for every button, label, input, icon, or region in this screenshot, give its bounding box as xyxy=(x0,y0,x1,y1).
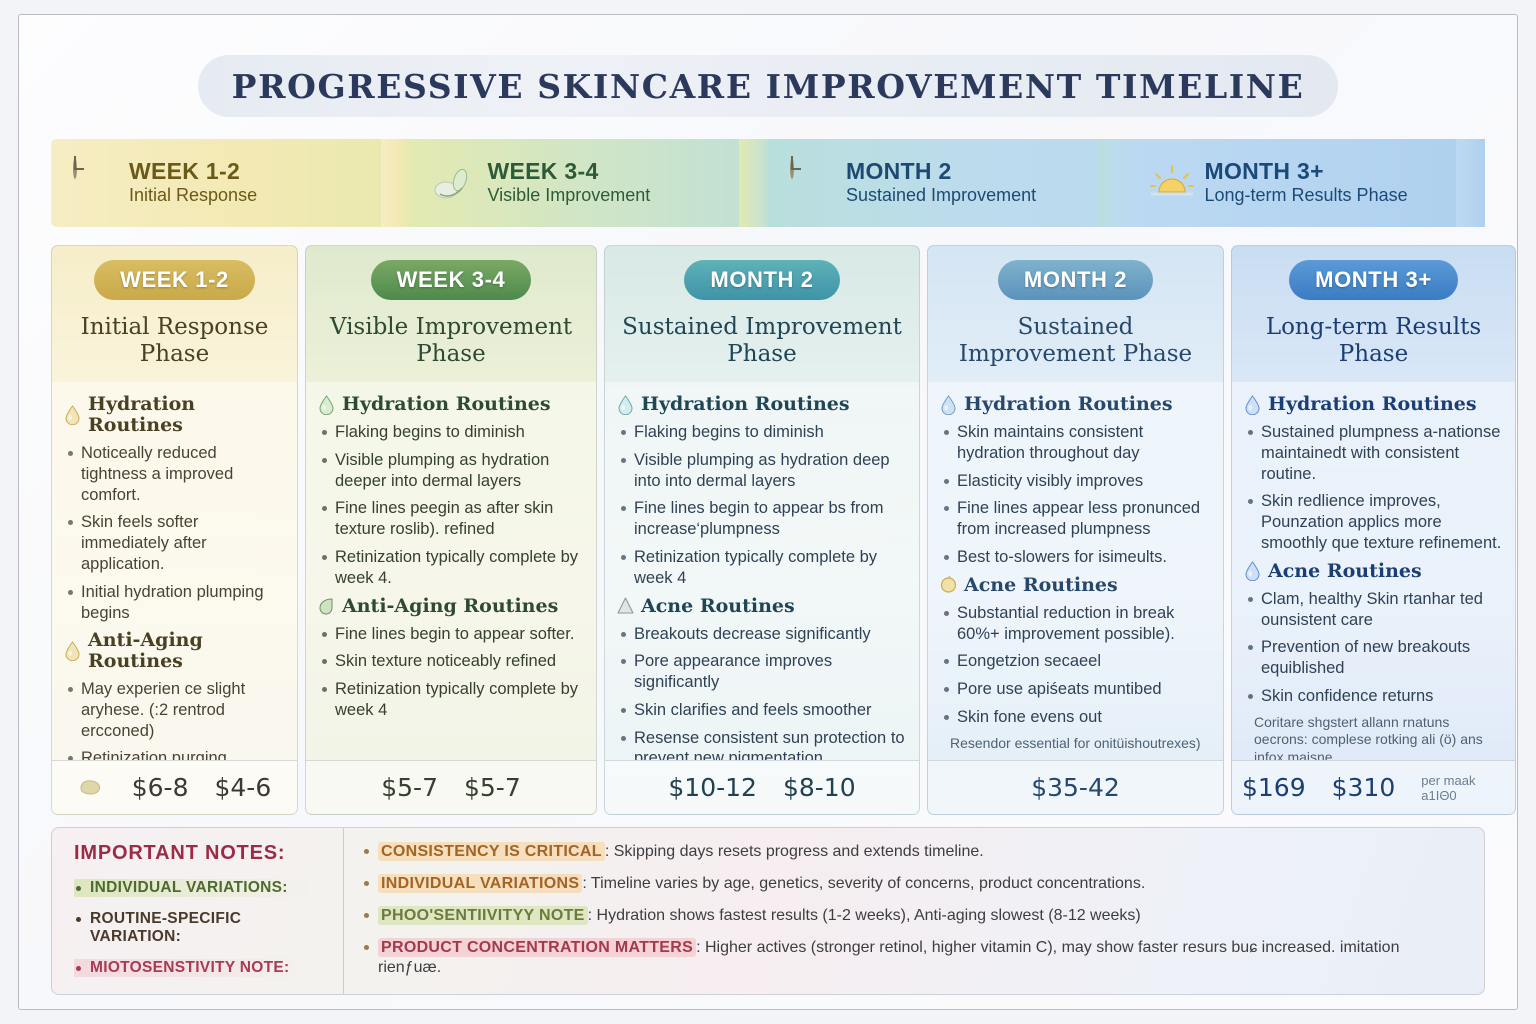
routine-item-list: Clam, healthy Skin rtanhar ted ounsisten… xyxy=(1244,589,1503,760)
price-row: $35-42 xyxy=(928,760,1223,814)
note-category: INDIVIDUAL VARIATIONS: xyxy=(74,879,333,897)
price-value: $169 xyxy=(1242,773,1306,802)
phase-title: Sustained Improvement Phase xyxy=(605,310,919,382)
routine-item: Elasticity visibly improves xyxy=(940,471,1211,492)
triangle-icon xyxy=(617,596,634,616)
droplet-icon xyxy=(1244,395,1261,415)
phase-card-2[interactable]: WEEK 3-4Visible Improvement PhaseHydrati… xyxy=(305,245,597,815)
routine-item: Skin texture noticeably refined xyxy=(318,651,584,672)
routine-group-header: Acne Routines xyxy=(1244,561,1503,582)
timeline-head: MONTH 2 xyxy=(846,159,1036,185)
notes-left-column: IMPORTANT NOTES: INDIVIDUAL VARIATIONS:R… xyxy=(52,828,344,994)
routine-group: Anti-Aging RoutinesFine lines begin to a… xyxy=(318,596,584,721)
droplet-icon xyxy=(318,395,335,415)
note-label: INDIVIDUAL VARIATIONS xyxy=(378,874,582,893)
routine-group-header: Acne Routines xyxy=(940,575,1211,596)
phase-card-4[interactable]: MONTH 2Sustained Improvement PhaseHydrat… xyxy=(927,245,1224,815)
note-bullet: INDIVIDUAL VARIATIONS: Timeline varies b… xyxy=(362,874,1466,894)
leaf-icon xyxy=(432,160,478,206)
routine-group-header: Hydration Routines xyxy=(617,394,907,415)
page-title: PROGRESSIVE SKINCARE IMPROVEMENT TIMELIN… xyxy=(232,67,1305,106)
routine-item-list: May experien ce slight aryhese. (:2 rent… xyxy=(64,679,285,760)
routine-group-label: Hydration Routines xyxy=(342,394,551,415)
phase-title: Initial Response Phase xyxy=(52,310,297,382)
routine-group-label: Hydration Routines xyxy=(1268,394,1477,415)
phase-badge: WEEK 3-4 xyxy=(371,260,532,300)
routine-item: Coritare shgstert allann rnatuns oecrons… xyxy=(1244,714,1503,760)
routine-group-header: Hydration Routines xyxy=(64,394,285,436)
stone-icon xyxy=(78,779,102,796)
timeline-sub: Initial Response xyxy=(129,185,257,207)
price-value: $5-7 xyxy=(464,773,521,802)
routine-group-label: Acne Routines xyxy=(964,575,1118,596)
routine-item: Skin fone evens out xyxy=(940,707,1211,728)
routine-group: Hydration RoutinesSkin maintains consist… xyxy=(940,394,1211,568)
routine-item: Visible plumping as hydration deep into … xyxy=(617,450,907,492)
routine-group-label: Anti-Aging Routines xyxy=(342,596,558,617)
price-row: $10-12$8-10 xyxy=(605,760,919,814)
routine-group-header: Hydration Routines xyxy=(1244,394,1503,415)
routine-item-list: Sustained plumpness a-nationse maintaine… xyxy=(1244,422,1503,554)
phase-badge-row: WEEK 1-2 xyxy=(52,246,297,310)
price-value: $6-8 xyxy=(132,773,189,802)
timeline-segment-4[interactable]: MONTH 3+Long-term Results Phase xyxy=(1127,139,1486,227)
routine-item-list: Skin maintains consistent hydration thro… xyxy=(940,422,1211,568)
phase-badge-row: MONTH 2 xyxy=(928,246,1223,310)
phase-badge: MONTH 2 xyxy=(684,260,839,300)
routine-group-label: Hydration Routines xyxy=(964,394,1173,415)
droplet-icon xyxy=(940,395,957,415)
circle-icon xyxy=(940,575,957,595)
routine-group-label: Acne Routines xyxy=(641,596,795,617)
droplet-icon xyxy=(1244,561,1261,581)
note-text: : Timeline varies by age, genetics, seve… xyxy=(582,875,1145,892)
routine-item-list: Substantial reduction in break 60%+ impr… xyxy=(940,603,1211,753)
phase-body: Hydration RoutinesSustained plumpness a-… xyxy=(1232,382,1515,760)
note-text: : Hydration shows fastest results (1-2 w… xyxy=(588,907,1141,924)
phase-title: Visible Improvement Phase xyxy=(306,310,596,382)
routine-item: Fine lines appear less pronunced from in… xyxy=(940,498,1211,540)
phase-card-3[interactable]: MONTH 2Sustained Improvement PhaseHydrat… xyxy=(604,245,920,815)
routine-item-list: Flaking begins to diminishVisible plumpi… xyxy=(318,422,584,588)
note-category: MIOTOSENSTIVITY NOTE: xyxy=(74,959,333,977)
routine-group-label: Acne Routines xyxy=(1268,561,1422,582)
routine-item: Breakouts decrease significantly xyxy=(617,624,907,645)
routine-item: Flaking begins to diminish xyxy=(318,422,584,443)
price-row: $169$310per maak а1ІΘ0 xyxy=(1232,760,1515,814)
routine-item: Skin maintains consistent hydration thro… xyxy=(940,422,1211,464)
important-notes-panel: IMPORTANT NOTES: INDIVIDUAL VARIATIONS:R… xyxy=(51,827,1485,995)
timeline-sub: Visible Improvement xyxy=(488,185,651,207)
timeline-head: WEEK 1-2 xyxy=(129,159,257,185)
routine-item: Sustained plumpness a-nationse maintaine… xyxy=(1244,422,1503,484)
note-text: : Skipping days resets progress and exte… xyxy=(605,843,984,860)
routine-item: Pore use apiśeats muntibed xyxy=(940,679,1211,700)
phase-badge: MONTH 3+ xyxy=(1289,260,1458,300)
routine-item: Clam, healthy Skin rtanhar ted ounsisten… xyxy=(1244,589,1503,631)
price-value: $35-42 xyxy=(1031,773,1120,802)
routine-item: Prevention of new breakouts equiblished xyxy=(1244,637,1503,679)
price-value: $310 xyxy=(1332,773,1396,802)
routine-item: Skin feels softer immediately after appl… xyxy=(64,512,285,574)
routine-group-label: Anti-Aging Routines xyxy=(88,630,285,672)
price-row: $6-8$4-6 xyxy=(52,760,297,814)
phase-body: Hydration RoutinesSkin maintains consist… xyxy=(928,382,1223,760)
routine-group: Acne RoutinesClam, healthy Skin rtanhar … xyxy=(1244,561,1503,760)
price-value: $4-6 xyxy=(215,773,272,802)
phase-body: Hydration RoutinesFlaking begins to dimi… xyxy=(306,382,596,760)
routine-item-list: Fine lines begin to appear softer.Skin t… xyxy=(318,624,584,721)
routine-item: May experien ce slight aryhese. (:2 rent… xyxy=(64,679,285,741)
routine-item: Retinization typically complete by week … xyxy=(617,547,907,589)
routine-group-label: Hydration Routines xyxy=(88,394,285,436)
routine-group: Acne RoutinesSubstantial reduction in br… xyxy=(940,575,1211,752)
note-category: ROUTINE-SPECIFIC VARIATION: xyxy=(74,910,333,946)
title-banner: PROGRESSIVE SKINCARE IMPROVEMENT TIMELIN… xyxy=(198,55,1338,117)
phase-body: Hydration RoutinesNoticeally reduced tig… xyxy=(52,382,297,760)
routine-item-list: Noticeally reduced tightness a improved … xyxy=(64,443,285,623)
note-bullet: CONSISTENCY IS CRITICAL: Skipping days r… xyxy=(362,842,1466,862)
phase-timeline: WEEK 1-2Initial ResponseWEEK 3-4Visible … xyxy=(51,139,1485,227)
timeline-segment-3[interactable]: MONTH 2Sustained Improvement xyxy=(768,139,1127,227)
timeline-segment-1[interactable]: WEEK 1-2Initial Response xyxy=(51,139,410,227)
infographic-poster: PROGRESSIVE SKINCARE IMPROVEMENT TIMELIN… xyxy=(18,14,1518,1010)
phase-badge-row: MONTH 3+ xyxy=(1232,246,1515,310)
price-note: per maak а1ІΘ0 xyxy=(1421,773,1505,803)
routine-item: Initial hydration plumping begins xyxy=(64,582,285,624)
timeline-segment-2[interactable]: WEEK 3-4Visible Improvement xyxy=(410,139,769,227)
phase-card-5[interactable]: MONTH 3+Long-term Results PhaseHydration… xyxy=(1231,245,1516,815)
phase-badge: MONTH 2 xyxy=(998,260,1153,300)
timeline-head: WEEK 3-4 xyxy=(488,159,651,185)
note-label: CONSISTENCY IS CRITICAL xyxy=(378,842,605,861)
droplet-icon xyxy=(64,641,81,661)
droplet-icon xyxy=(617,395,634,415)
routine-item-list: Flaking begins to diminishVisible plumpi… xyxy=(617,422,907,588)
note-label: PHOO'SENTIIVITYY NOTE xyxy=(378,906,588,925)
routine-item: Resense consistent sun protection to pre… xyxy=(617,728,907,760)
routine-group: Anti-Aging RoutinesMay experien ce sligh… xyxy=(64,630,285,760)
routine-group: Hydration RoutinesSustained plumpness a-… xyxy=(1244,394,1503,554)
note-label: PRODUCT CONCENTRATION MATTERS xyxy=(378,938,696,957)
clock-icon xyxy=(73,160,119,206)
routine-item: Pore appearance improves significantly xyxy=(617,651,907,693)
routine-item-list: Breakouts decrease significantlyPore app… xyxy=(617,624,907,761)
notes-title: IMPORTANT NOTES: xyxy=(74,842,333,865)
price-value: $10-12 xyxy=(668,773,757,802)
routine-group-header: Acne Routines xyxy=(617,596,907,617)
phase-title: Sustained Improvement Phase xyxy=(928,310,1223,382)
clock-icon xyxy=(790,160,836,206)
phase-columns: WEEK 1-2Initial Response PhaseHydration … xyxy=(51,245,1485,815)
routine-item: Fine lines peegin as after skin texture … xyxy=(318,498,584,540)
routine-item: Visible plumping as hydration deeper int… xyxy=(318,450,584,492)
routine-group: Acne RoutinesBreakouts decrease signific… xyxy=(617,596,907,760)
routine-group: Hydration RoutinesNoticeally reduced tig… xyxy=(64,394,285,623)
price-row: $5-7$5-7 xyxy=(306,760,596,814)
notes-right-column: CONSISTENCY IS CRITICAL: Skipping days r… xyxy=(344,828,1484,994)
routine-group-header: Anti-Aging Routines xyxy=(318,596,584,617)
note-bullet: PRODUCT CONCENTRATION MATTERS: Higher ac… xyxy=(362,938,1466,978)
routine-item: Noticeally reduced tightness a improved … xyxy=(64,443,285,505)
routine-item: Retinization typically complete by week … xyxy=(318,679,584,721)
routine-item: Retinization purging possible (acreased … xyxy=(64,748,285,760)
routine-item: Skin redlience improves, Pounzation appl… xyxy=(1244,491,1503,553)
routine-group: Hydration RoutinesFlaking begins to dimi… xyxy=(617,394,907,588)
routine-group-header: Anti-Aging Routines xyxy=(64,630,285,672)
leaf-drop-icon xyxy=(318,596,335,616)
sunrise-icon xyxy=(1149,160,1195,206)
routine-group-label: Hydration Routines xyxy=(641,394,850,415)
phase-title: Long-term Results Phase xyxy=(1232,310,1515,382)
price-value: $8-10 xyxy=(783,773,856,802)
routine-item: Retinization typically complete by week … xyxy=(318,547,584,589)
routine-item: Skin clarifies and feels smoother xyxy=(617,700,907,721)
routine-item: Best to-slowers for isimeults. xyxy=(940,547,1211,568)
phase-badge: WEEK 1-2 xyxy=(94,260,255,300)
phase-body: Hydration RoutinesFlaking begins to dimi… xyxy=(605,382,919,760)
price-value: $5-7 xyxy=(381,773,438,802)
timeline-head: MONTH 3+ xyxy=(1205,159,1408,185)
routine-item: Fine lines begin to appear bs from incre… xyxy=(617,498,907,540)
routine-item: Resendor essential for onitüishoutrexes) xyxy=(940,735,1211,753)
routine-group-header: Hydration Routines xyxy=(318,394,584,415)
phase-badge-row: MONTH 2 xyxy=(605,246,919,310)
routine-item: Substantial reduction in break 60%+ impr… xyxy=(940,603,1211,645)
droplet-icon xyxy=(64,405,81,425)
note-bullet: PHOO'SENTIIVITYY NOTE: Hydration shows f… xyxy=(362,906,1466,926)
routine-item: Eongetzion secaeel xyxy=(940,651,1211,672)
routine-item: Skin confidence returns xyxy=(1244,686,1503,707)
routine-item: Fine lines begin to appear softer. xyxy=(318,624,584,645)
routine-group: Hydration RoutinesFlaking begins to dimi… xyxy=(318,394,584,588)
timeline-sub: Sustained Improvement xyxy=(846,185,1036,207)
routine-item: Flaking begins to diminish xyxy=(617,422,907,443)
timeline-sub: Long-term Results Phase xyxy=(1205,185,1408,207)
phase-card-1[interactable]: WEEK 1-2Initial Response PhaseHydration … xyxy=(51,245,298,815)
routine-group-header: Hydration Routines xyxy=(940,394,1211,415)
phase-badge-row: WEEK 3-4 xyxy=(306,246,596,310)
